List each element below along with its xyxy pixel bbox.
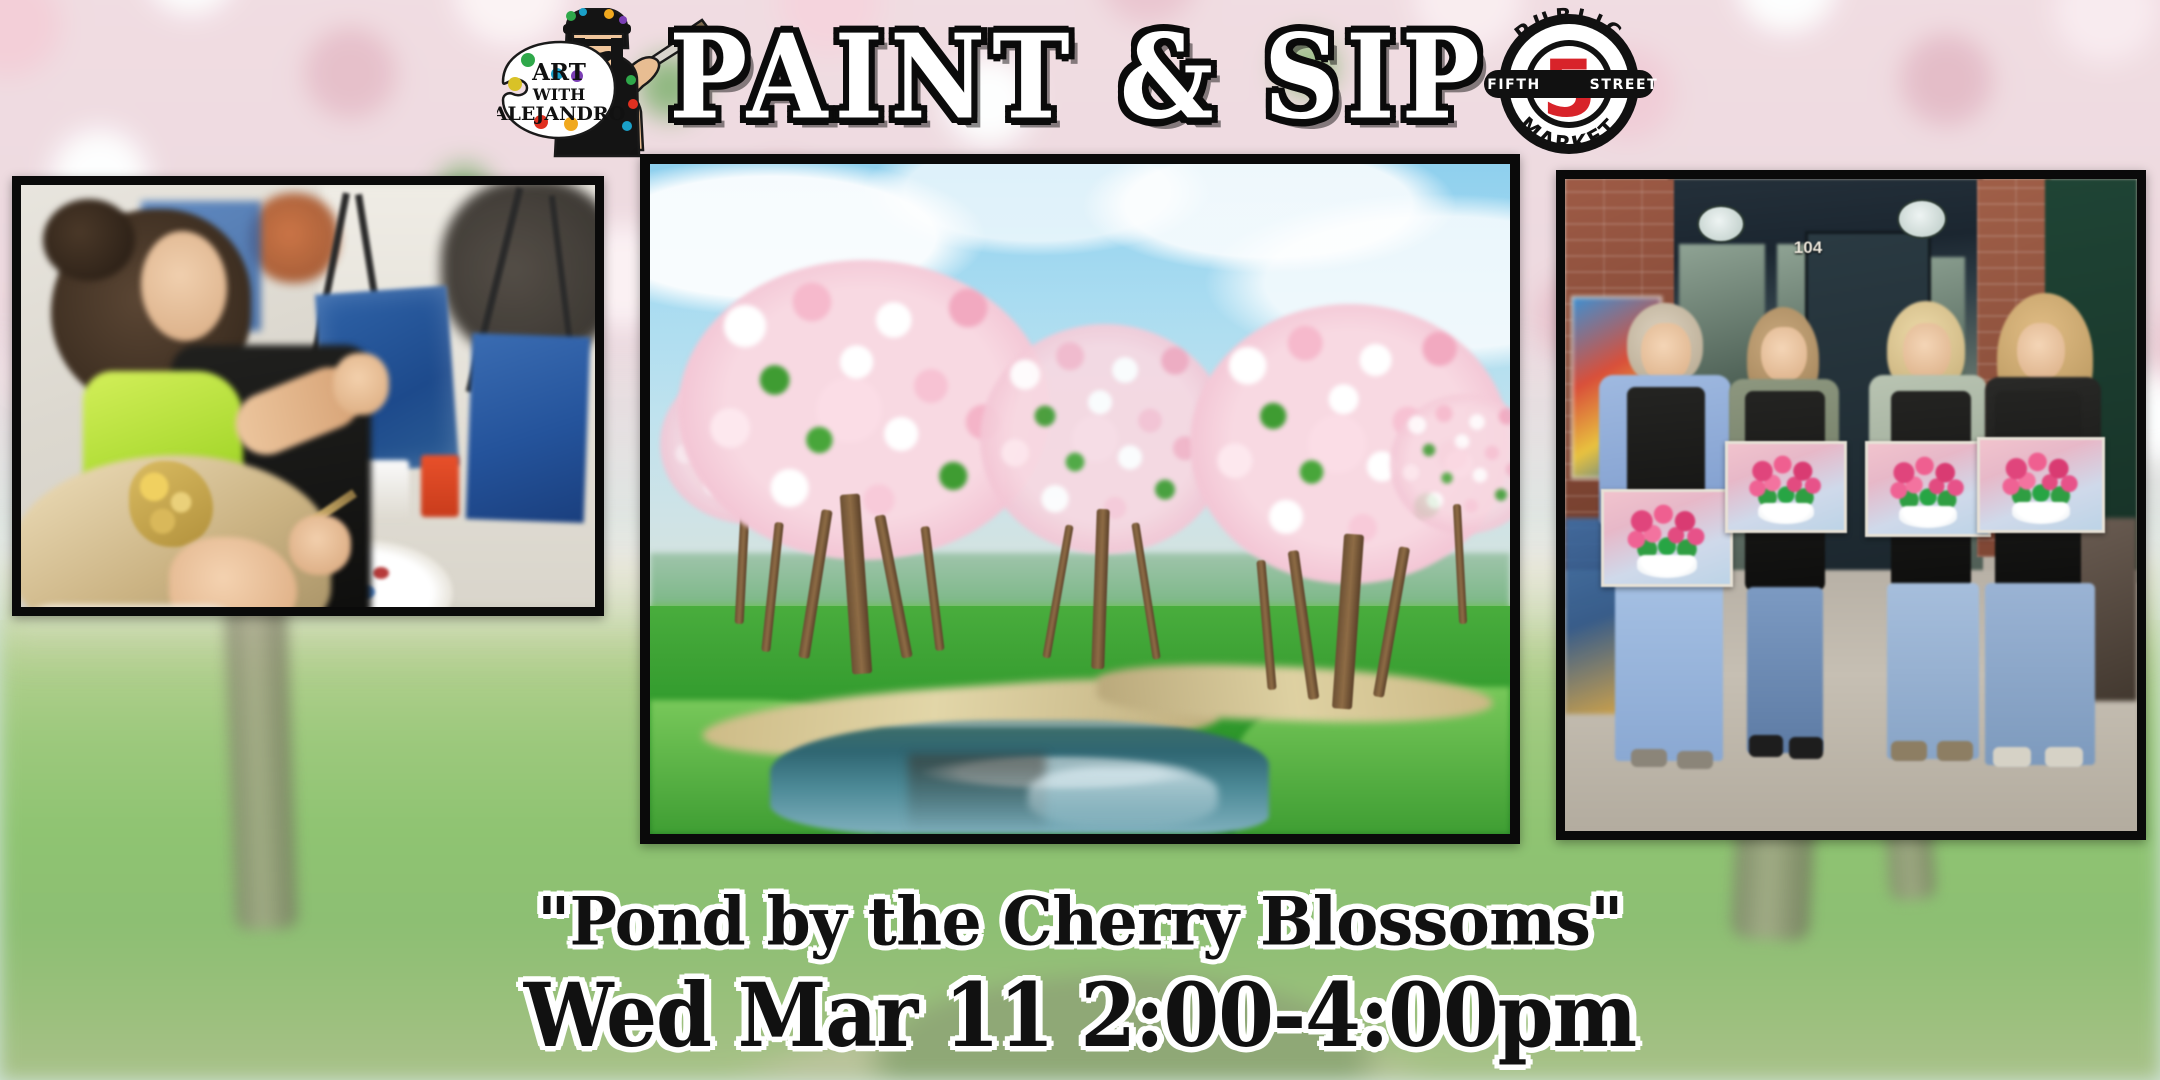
event-title-text: PAINT & SIP	[669, 7, 1487, 145]
event-datetime: Wed Mar 11 2:00-4:00pm	[0, 968, 2160, 1062]
logo-line-3: ALEJANDRO	[497, 103, 625, 125]
featured-artwork-photo	[640, 154, 1520, 844]
event-datetime-text: Wed Mar 11 2:00-4:00pm	[524, 963, 1636, 1066]
paint-and-sip-event-banner: ART WITH ALEJANDRO PAINT & SIP PUBL	[0, 0, 2160, 1080]
market-bar-left: FIFTH	[1487, 77, 1541, 93]
held-painting-3	[1865, 441, 1991, 537]
group-photo-content: 104	[1565, 179, 2137, 831]
banner-header: ART WITH ALEJANDRO PAINT & SIP PUBL	[0, 0, 2160, 165]
event-title: PAINT & SIP	[728, 12, 1428, 140]
storefront-sign-right	[1897, 199, 1947, 239]
paint-class-photo	[12, 176, 604, 616]
artwork-title: "Pond by the Cherry Blossoms"	[0, 884, 2160, 958]
fifth-street-public-market-logo: PUBLIC MARKET 5 FIFTH STREET	[1478, 4, 1660, 164]
held-painting-1	[1601, 489, 1733, 587]
storefront-suite-number: 104	[1794, 238, 1822, 258]
paint-class-photo-content	[21, 185, 595, 607]
held-painting-4	[1977, 437, 2105, 533]
storefront-sign-left	[1697, 205, 1745, 243]
held-painting-2	[1725, 441, 1847, 533]
logo-line-2: WITH	[532, 85, 585, 104]
logo-line-1: ART	[531, 59, 586, 86]
background-tree-trunk-left	[224, 599, 297, 931]
market-bar-right: STREET	[1590, 77, 1659, 93]
artwork-title-text: "Pond by the Cherry Blossoms"	[537, 882, 1622, 960]
featured-artwork-content	[650, 164, 1510, 834]
group-photo: 104	[1556, 170, 2146, 840]
